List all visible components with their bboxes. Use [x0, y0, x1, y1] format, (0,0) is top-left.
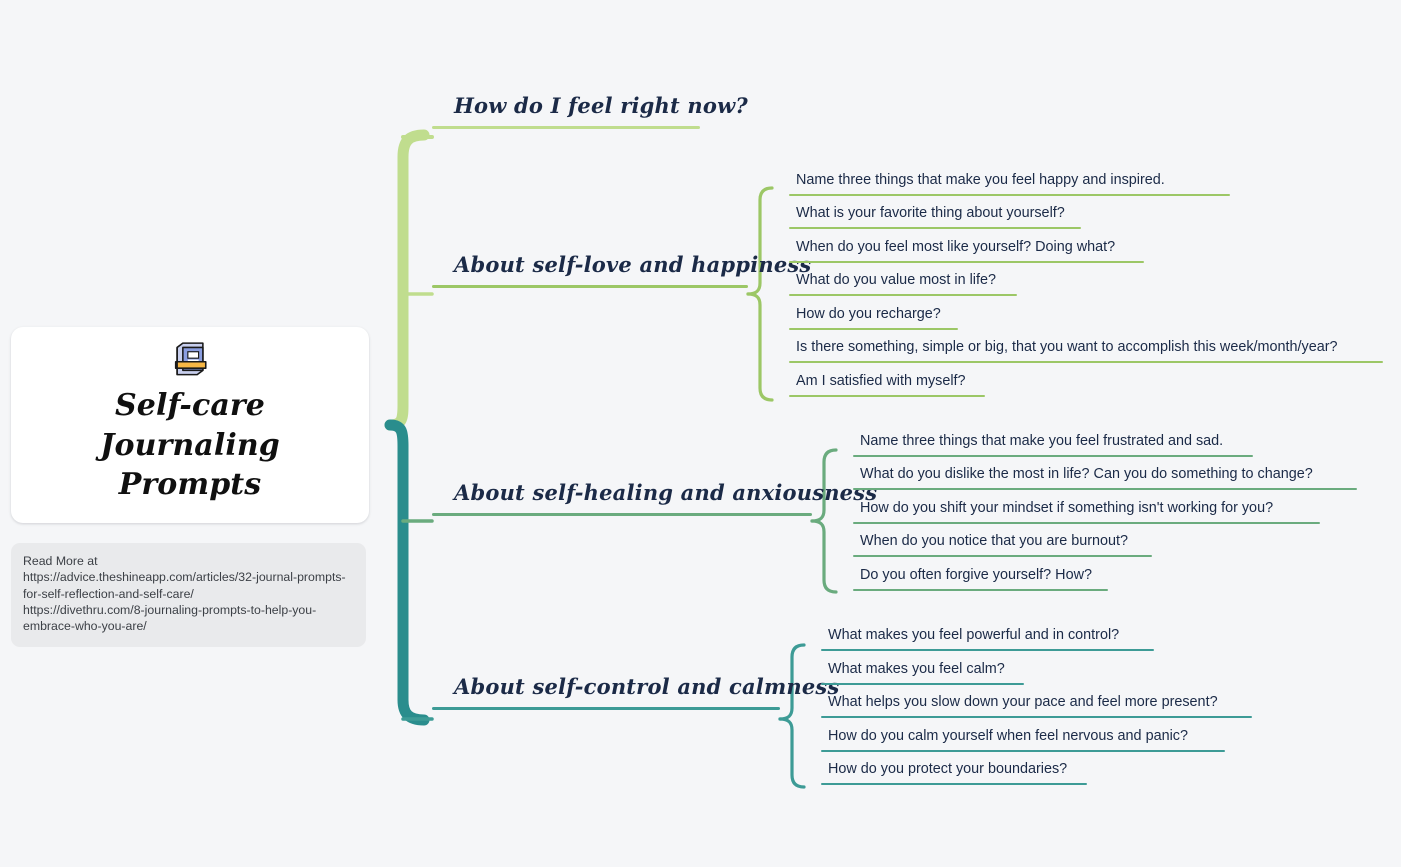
topic-underline — [432, 707, 780, 710]
leaf-label: What makes you feel calm? — [821, 661, 1024, 683]
topic-underline — [432, 285, 748, 288]
leaf-underline — [853, 589, 1108, 591]
leaf-label: How do you protect your boundaries? — [821, 761, 1087, 783]
topic-about-self-healing-and-anxiousness[interactable]: About self-healing and anxiousness — [432, 480, 812, 516]
leaf-underline — [821, 783, 1087, 785]
leaf-label: Am I satisfied with myself? — [789, 373, 985, 395]
list-item[interactable]: Name three things that make you feel hap… — [789, 172, 1230, 196]
list-item[interactable]: Do you often forgive yourself? How? — [853, 567, 1108, 591]
leaf-underline — [789, 328, 958, 330]
topic-label: How do I feel right now? — [432, 93, 700, 126]
list-item[interactable]: Name three things that make you feel fru… — [853, 433, 1253, 457]
leaf-underline — [853, 488, 1357, 490]
leaf-underline — [821, 750, 1225, 752]
list-item[interactable]: What do you value most in life? — [789, 272, 1017, 296]
journal-book-icon — [163, 341, 217, 378]
topic-about-self-love-and-happiness[interactable]: About self-love and happiness — [432, 252, 748, 288]
topic-about-self-control-and-calmness[interactable]: About self-control and calmness — [432, 674, 780, 710]
leaf-label: Name three things that make you feel fru… — [853, 433, 1253, 455]
list-item[interactable]: When do you feel most like yourself? Doi… — [789, 239, 1144, 263]
leaf-label: How do you shift your mindset if somethi… — [853, 500, 1320, 522]
leaf-underline — [821, 716, 1252, 718]
leaf-underline — [789, 361, 1383, 363]
list-item[interactable]: What do you dislike the most in life? Ca… — [853, 466, 1357, 490]
list-item[interactable]: Am I satisfied with myself? — [789, 373, 985, 397]
leaf-underline — [853, 522, 1320, 524]
leaf-label: What helps you slow down your pace and f… — [821, 694, 1252, 716]
central-node-title: Self-care Journaling Prompts — [33, 386, 347, 505]
topic-label: About self-control and calmness — [432, 674, 780, 707]
leaf-underline — [821, 649, 1154, 651]
list-item[interactable]: How do you protect your boundaries? — [821, 761, 1087, 785]
list-item[interactable]: When do you notice that you are burnout? — [853, 533, 1152, 557]
topic-underline — [432, 513, 812, 516]
leaf-label: When do you feel most like yourself? Doi… — [789, 239, 1144, 261]
leaf-underline — [789, 194, 1230, 196]
list-item[interactable]: What helps you slow down your pace and f… — [821, 694, 1252, 718]
leaf-label: What do you value most in life? — [789, 272, 1017, 294]
topic-label: About self-love and happiness — [432, 252, 748, 285]
leaf-label: How do you recharge? — [789, 306, 958, 328]
list-item[interactable]: What makes you feel calm? — [821, 661, 1024, 685]
leaf-underline — [789, 227, 1081, 229]
leaf-underline — [853, 555, 1152, 557]
leaf-underline — [789, 261, 1144, 263]
topic-label: About self-healing and anxiousness — [432, 480, 812, 513]
list-item[interactable]: What makes you feel powerful and in cont… — [821, 627, 1154, 651]
topic-underline — [432, 126, 700, 129]
leaf-underline — [789, 294, 1017, 296]
topic-how-do-i-feel-right-now[interactable]: How do I feel right now? — [432, 93, 700, 129]
leaf-label: Is there something, simple or big, that … — [789, 339, 1383, 361]
list-item[interactable]: How do you calm yourself when feel nervo… — [821, 728, 1225, 752]
leaf-underline — [853, 455, 1253, 457]
leaf-underline — [789, 395, 985, 397]
list-item[interactable]: How do you shift your mindset if somethi… — [853, 500, 1320, 524]
list-item[interactable]: What is your favorite thing about yourse… — [789, 205, 1081, 229]
list-item[interactable]: How do you recharge? — [789, 306, 958, 330]
list-item[interactable]: Is there something, simple or big, that … — [789, 339, 1383, 363]
leaf-label: When do you notice that you are burnout? — [853, 533, 1152, 555]
leaf-label: Do you often forgive yourself? How? — [853, 567, 1108, 589]
leaf-label: What do you dislike the most in life? Ca… — [853, 466, 1357, 488]
leaf-label: What makes you feel powerful and in cont… — [821, 627, 1154, 649]
leaf-label: Name three things that make you feel hap… — [789, 172, 1230, 194]
read-more-note: Read More at https://advice.theshineapp.… — [11, 543, 366, 647]
read-more-text: Read More at https://advice.theshineapp.… — [23, 553, 354, 635]
leaf-label: How do you calm yourself when feel nervo… — [821, 728, 1225, 750]
central-node[interactable]: Self-care Journaling Prompts — [11, 327, 369, 523]
leaf-underline — [821, 683, 1024, 685]
leaf-label: What is your favorite thing about yourse… — [789, 205, 1081, 227]
mindmap-canvas: Self-care Journaling Prompts Read More a… — [0, 0, 1401, 867]
